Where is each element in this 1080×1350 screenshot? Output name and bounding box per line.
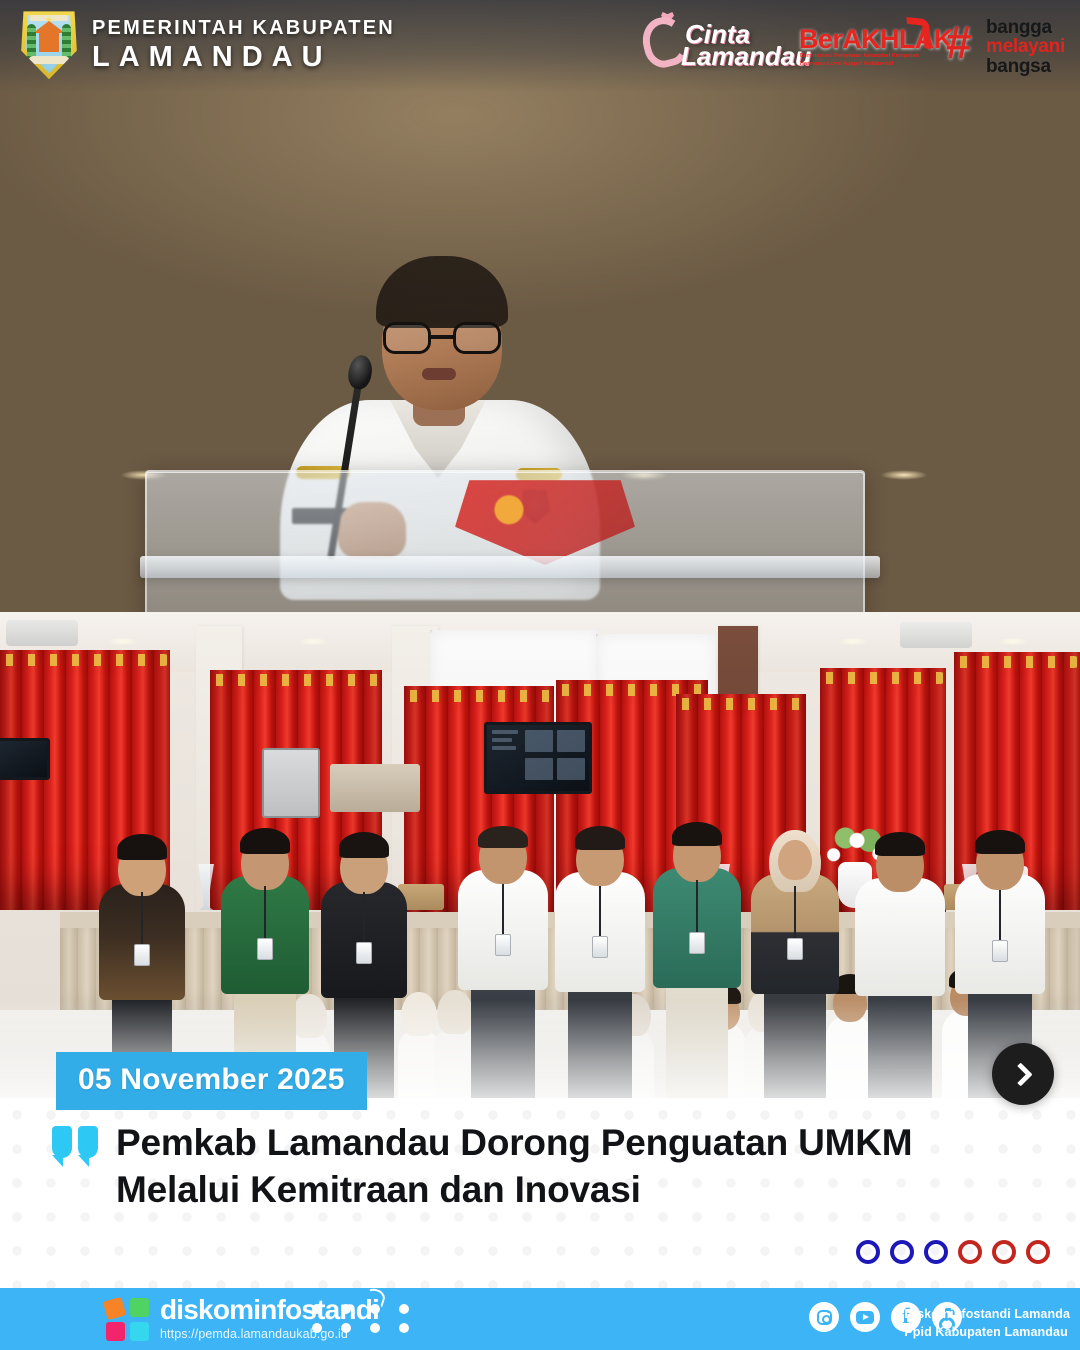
pagination-dot-4[interactable]	[958, 1240, 982, 1264]
bangga-line-3: bangsa	[986, 57, 1065, 76]
social-handle-line-2: Ppid Kabupaten Lamandau	[904, 1323, 1070, 1341]
hashtag-icon: #	[946, 19, 972, 65]
berakhlak-subtitle: Berorientasi Pelayanan Akuntabel Kompete…	[800, 52, 928, 68]
photo-lower-group-scene	[0, 612, 1080, 1108]
eyeglasses-icon	[382, 322, 502, 354]
photo-upper-podium-scene	[0, 0, 1080, 640]
post-footer: diskominfostandi https://pemda.lamandauk…	[0, 1288, 1080, 1350]
bangga-line-2: melayani	[986, 37, 1065, 56]
berakhlak-logo: BerAKHLAK Berorientasi Pelayanan Akuntab…	[797, 10, 932, 72]
swoosh-icon	[906, 17, 932, 49]
page-title: Pemkab Lamandau Dorong Penguatan UMKM Me…	[116, 1120, 1016, 1213]
microphone-icon	[327, 371, 364, 560]
person-figure	[650, 812, 744, 1108]
carousel-pagination[interactable]	[856, 1240, 1050, 1264]
pagination-dot-1[interactable]	[856, 1240, 880, 1264]
bangga-line-1: bangga	[986, 18, 1065, 37]
person-figure	[552, 816, 648, 1108]
person-figure	[852, 824, 948, 1108]
brand-lockup: PEMERINTAH KABUPATEN LAMANDAU	[20, 10, 395, 80]
quote-mark-icon	[50, 1126, 102, 1166]
regency-name: LAMANDAU	[92, 43, 395, 72]
lamandau-coat-of-arms-icon	[20, 10, 78, 80]
news-photo	[0, 0, 1080, 1108]
instagram-icon[interactable]	[809, 1302, 839, 1332]
podium-emblem	[455, 480, 635, 565]
pagination-dot-6[interactable]	[1026, 1240, 1050, 1264]
footer-dot-grid	[312, 1304, 417, 1333]
monitor-screen	[484, 722, 592, 794]
social-handle: Diskominfostandi Lamanda Ppid Kabupaten …	[904, 1305, 1070, 1341]
next-slide-button[interactable]	[992, 1043, 1054, 1105]
pagination-dot-2[interactable]	[890, 1240, 914, 1264]
instagram-post-card: PEMERINTAH KABUPATEN LAMANDAU Cinta Lama…	[0, 0, 1080, 1350]
lamandau-word: Lamandau	[681, 41, 811, 72]
header-logo-group: Cinta Lamandau BerAKHLAK Berorientasi Pe…	[643, 9, 1066, 73]
social-handle-line-1: Diskominfostandi Lamanda	[904, 1305, 1070, 1323]
publication-date-badge: 05 November 2025	[56, 1052, 367, 1110]
government-label: PEMERINTAH KABUPATEN	[92, 18, 395, 38]
chevron-right-icon	[1008, 1062, 1032, 1086]
squares-logo-icon	[105, 1298, 151, 1340]
pagination-dot-3[interactable]	[924, 1240, 948, 1264]
youtube-icon[interactable]	[850, 1302, 880, 1332]
post-header: PEMERINTAH KABUPATEN LAMANDAU Cinta Lama…	[0, 0, 1080, 92]
bangga-melayani-bangsa-logo: # bangga melayani bangsa	[946, 9, 1066, 73]
cinta-lamandau-logo: Cinta Lamandau	[643, 9, 783, 73]
speaker-figure	[270, 240, 600, 570]
person-figure	[455, 814, 551, 1108]
person-figure	[748, 818, 842, 1108]
pagination-dot-5[interactable]	[992, 1240, 1016, 1264]
